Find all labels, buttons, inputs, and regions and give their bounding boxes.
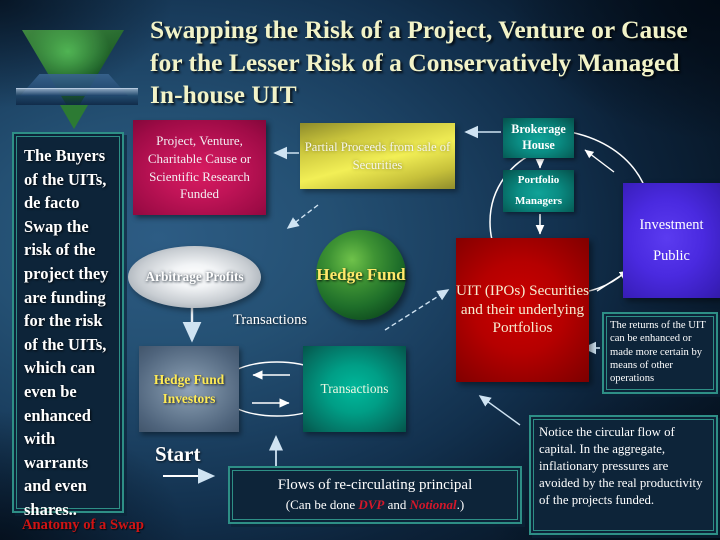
flows-notional-term: Notional [410,497,457,512]
circular-flow-note: Notice the circular flow of capital. In … [529,415,718,535]
project-venture-box: Project, Venture, Charitable Cause or Sc… [133,120,266,215]
loop-arrowhead-upper [585,150,614,172]
slide-canvas: Swapping the Risk of a Project, Venture … [0,0,720,540]
flows-sub-line: (Can be done DVP and Notional.) [236,496,514,514]
logo-bar-sheen [16,88,138,105]
hedge-fund-to-project-arrow [288,205,318,228]
flows-sub-post: .) [457,497,465,512]
partial-proceeds-box: Partial Proceeds from sale of Securities [300,123,455,189]
buyers-description-panel: The Buyers of the UITs, de facto Swap th… [12,132,124,513]
hedge-fund-sphere: Hedge Fund [316,230,406,320]
flows-main-line: Flows of re-circulating principal [236,475,514,496]
hedge-fund-investors-box: Hedge Fund Investors [139,346,239,432]
transactions-box: Transactions [303,346,406,432]
uit-ipos-box: UIT (IPOs) Securities and their underlyi… [456,238,589,382]
logo-triangle-tip [60,105,88,129]
page-title: Swapping the Risk of a Project, Venture … [150,14,700,112]
investment-public-box: Investment Public [623,183,720,298]
portfolio-managers-box: Portfolio Managers [503,170,574,212]
flows-dvp-term: DVP [358,497,384,512]
flows-to-uit-arrow [480,396,520,425]
uit-returns-note: The returns of the UIT can be enhanced o… [602,312,718,394]
transactions-label: Transactions [233,312,307,329]
inverted-green-triangle-logo [8,12,138,117]
flows-sub-pre: (Can be done [286,497,359,512]
arbitrage-profits-ellipse: Arbitrage Profits [128,246,261,308]
start-label: Start [155,442,201,467]
brokerage-house-box: Brokerage House [503,118,574,158]
flows-sub-mid: and [384,497,409,512]
flows-principal-note: Flows of re-circulating principal (Can b… [228,466,522,524]
